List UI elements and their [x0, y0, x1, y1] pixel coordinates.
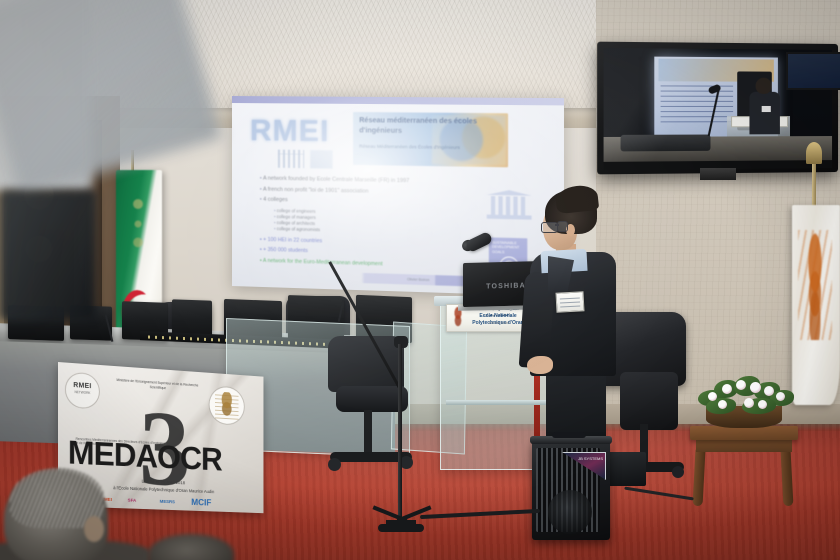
loudspeaker-cone	[548, 490, 592, 534]
side-table-top	[690, 426, 798, 440]
podium-crossbar	[446, 400, 554, 405]
presenter-name-badge	[555, 291, 584, 312]
executive-chair-wheel	[672, 466, 684, 478]
foreground-blur-speaker	[0, 190, 96, 320]
flower-arrangement	[696, 374, 796, 416]
sdg-card-label: SUSTAINABLE DEVELOPMENT GOALS	[492, 241, 524, 252]
slide-header-subtitle: Réseau Méditerranéen des Écoles d'Ingéni…	[359, 143, 474, 163]
sponsor-logo: SFA	[128, 495, 136, 506]
secondary-monitor	[786, 52, 840, 90]
side-table-apron	[696, 438, 792, 452]
flag-emblem-icon	[798, 230, 832, 340]
rmei-logo-subtext: NETWORK	[66, 390, 99, 396]
office-chair-back	[328, 336, 404, 392]
eyeglasses-icon	[557, 221, 568, 232]
flag-gold-motif	[124, 180, 152, 260]
sponsor-logo: MCIF	[191, 497, 211, 508]
unesco-temple-icon	[487, 186, 532, 222]
unesco-temple-icon	[278, 150, 304, 169]
loudspeaker-handle	[552, 432, 586, 438]
monitor-wall-mount	[700, 168, 736, 180]
list-item: A french non profit "loi de 1901" associ…	[260, 186, 466, 198]
list-item: A network founded by Ecole Centrale Mars…	[260, 175, 466, 186]
microphone-stand-base	[378, 524, 424, 532]
slide-header-title: Réseau méditerranéen des écoles d'ingéni…	[359, 116, 501, 140]
list-item: 4 colleges	[260, 197, 466, 209]
podium-sign-subtitle: Maurice Audin	[470, 321, 528, 326]
eyeglasses-bridge	[555, 224, 559, 226]
partner-logo-icon	[310, 150, 332, 169]
sponsor-logo: MESRS	[160, 496, 175, 507]
slide-footer-left-label: Olivier Boiron	[394, 275, 442, 285]
office-chair-wheel	[328, 458, 341, 471]
slide-bullet-list: A network founded by Ecole Centrale Mars…	[260, 175, 466, 271]
laptop-brand-label: TOSHIBA	[485, 281, 527, 292]
microphone-stand-leg	[386, 520, 416, 524]
microphone-stand-pole	[398, 344, 402, 530]
executive-chair-seat	[620, 372, 678, 430]
flag-finial	[806, 142, 822, 164]
audience-ear	[84, 516, 104, 542]
presenter-hands	[527, 356, 553, 374]
rmei-logo: RMEI	[250, 113, 351, 150]
office-chair-post	[364, 410, 372, 456]
list-item-highlight: A network for the Euro-Mediterranean dev…	[260, 258, 466, 272]
crest-emblem-icon	[215, 391, 238, 419]
conference-hall-photo: RMEI Réseau méditerranéen des écoles d'i…	[0, 0, 840, 560]
